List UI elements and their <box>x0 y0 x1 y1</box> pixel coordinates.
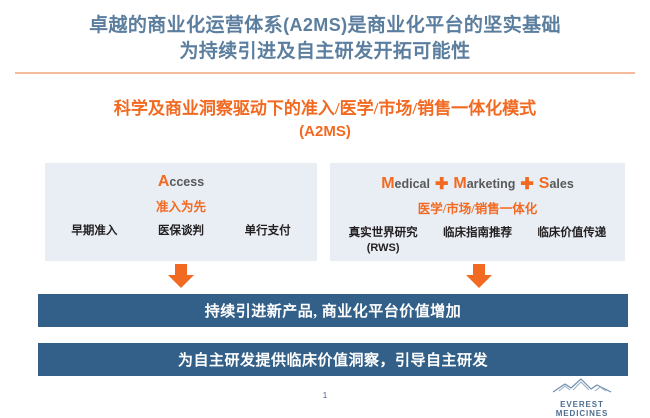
plus-icon: ✚ <box>515 176 538 193</box>
outcome-banner-label: 持续引进新产品, 商业化平台价值增加 <box>205 300 462 321</box>
down-arrow-icon <box>466 264 492 288</box>
pillar-item: 真实世界研究 (RWS) <box>349 226 418 256</box>
outcome-banner-label: 为自主研发提供临床价值洞察，引导自主研发 <box>178 349 488 370</box>
pillar-item-label: 医保谈判 <box>158 225 204 237</box>
pillar-access-heading: Access <box>45 173 317 191</box>
page-title-line-2: 为持续引进及自主研发开拓可能性 <box>0 39 650 65</box>
pillar-access-subheading: 准入为先 <box>45 196 317 215</box>
down-arrow-icon <box>168 264 194 288</box>
pillar-item-label: 早期准入 <box>71 225 117 237</box>
pillar-item: 医保谈判 <box>158 224 204 239</box>
pillar-mms-heading-rest-sales: ales <box>549 177 573 191</box>
pillar-access-heading-cap: A <box>158 173 170 190</box>
pillar-mms-heading-cap-marketing: M <box>453 175 466 192</box>
pillar-mms-item-list: 真实世界研究 (RWS) 临床指南推荐 临床价值传递 <box>330 226 625 256</box>
pillar-item-label: 单行支付 <box>245 225 291 237</box>
page-title-part-acronym: (A2MS) <box>283 15 347 35</box>
brand-logo-name: EVEREST MEDICINES <box>534 400 630 418</box>
slide-header: 卓越的商业化运营体系(A2MS)是商业化平台的坚实基础 为持续引进及自主研发开拓… <box>0 12 650 65</box>
pillar-card-access: Access 准入为先 早期准入 医保谈判 单行支付 <box>45 163 317 261</box>
subtitle-acronym: (A2MS) <box>0 121 650 143</box>
outcome-banner: 为自主研发提供临床价值洞察，引导自主研发 <box>38 343 628 376</box>
subtitle-main: 科学及商业洞察驱动下的准入/医学/市场/销售一体化模式 <box>0 97 650 121</box>
plus-icon: ✚ <box>430 176 453 193</box>
pillar-access-heading-rest: ccess <box>169 175 204 189</box>
page-title-part-post: 是商业化平台的坚实基础 <box>348 15 561 36</box>
pillar-item: 临床价值传递 <box>537 226 606 241</box>
pillar-item-label: 临床指南推荐 <box>443 227 512 239</box>
pillar-mms-heading-cap-medical: M <box>381 175 394 192</box>
pillar-item: 临床指南推荐 <box>443 226 512 241</box>
pillar-mms-subheading: 医学/市场/销售一体化 <box>330 198 625 217</box>
page-title-part-pre: 卓越的商业化运营体系 <box>89 15 283 36</box>
pillar-item-sublabel: (RWS) <box>349 241 418 256</box>
page-title-line-1: 卓越的商业化运营体系(A2MS)是商业化平台的坚实基础 <box>0 12 650 39</box>
mountain-icon <box>551 378 613 394</box>
pillar-mms-heading-rest-medical: edical <box>395 177 430 191</box>
pillar-item: 单行支付 <box>245 224 291 239</box>
pillar-item: 早期准入 <box>71 224 117 239</box>
outcome-banner: 持续引进新产品, 商业化平台价值增加 <box>38 294 628 327</box>
brand-logo: EVEREST MEDICINES <box>534 378 630 418</box>
pillar-mms-heading-rest-marketing: arketing <box>467 177 516 191</box>
pillar-item-label: 临床价值传递 <box>537 227 606 239</box>
pillar-mms-heading: Medical✚Marketing✚Sales <box>330 173 625 193</box>
pillar-mms-heading-cap-sales: S <box>539 175 550 192</box>
subtitle-block: 科学及商业洞察驱动下的准入/医学/市场/销售一体化模式 (A2MS) <box>0 97 650 143</box>
pillar-card-mms: Medical✚Marketing✚Sales 医学/市场/销售一体化 真实世界… <box>330 163 625 261</box>
pillar-item-label: 真实世界研究 <box>349 227 418 239</box>
header-divider <box>15 72 635 74</box>
pillar-access-item-list: 早期准入 医保谈判 单行支付 <box>45 224 317 239</box>
